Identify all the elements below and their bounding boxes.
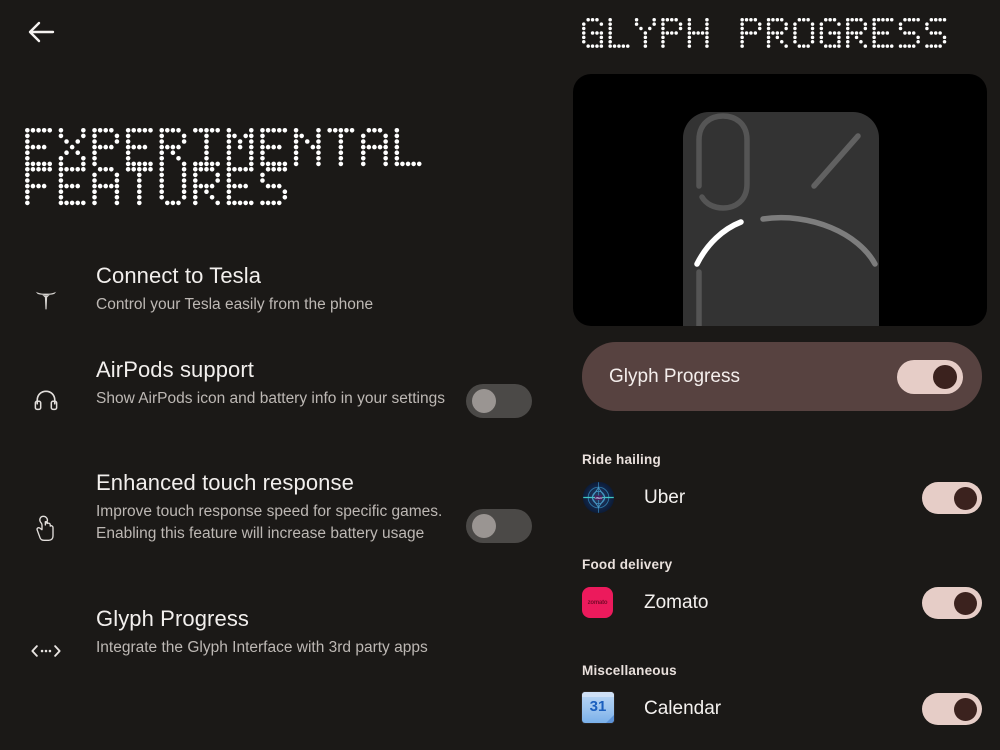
feature-title: Connect to Tesla (96, 262, 448, 290)
section-miscellaneous: Miscellaneous 31 Calendar (582, 663, 982, 726)
feature-subtitle: Improve touch response speed for specifi… (96, 501, 448, 544)
calendar-toggle[interactable] (922, 693, 982, 725)
app-name: Uber (644, 487, 922, 509)
back-button[interactable] (18, 10, 64, 54)
glyph-progress-master-label: Glyph Progress (609, 366, 740, 388)
experimental-features-screen: Connect to Tesla Control your Tesla easi… (0, 0, 1000, 750)
feature-row-airpods-support[interactable]: AirPods support Show AirPods icon and ba… (0, 350, 560, 465)
uber-toggle[interactable] (922, 482, 982, 514)
zomato-app-icon: zomato (582, 586, 616, 620)
feature-row-glyph-progress[interactable]: Glyph Progress Integrate the Glyph Inter… (0, 601, 560, 691)
feature-subtitle: Control your Tesla easily from the phone (96, 294, 448, 316)
calendar-app-icon: 31 (582, 692, 616, 726)
calendar-icon-day: 31 (582, 698, 614, 715)
glyph-progress-master-toggle[interactable] (897, 360, 963, 394)
feature-title: Glyph Progress (96, 605, 448, 633)
section-food-delivery: Food delivery zomato Zomato (582, 557, 982, 620)
section-header: Food delivery (582, 557, 982, 572)
app-row-zomato[interactable]: zomato Zomato (582, 586, 982, 620)
feature-title: AirPods support (96, 356, 448, 384)
app-row-uber[interactable]: UBER Uber (582, 481, 982, 515)
feature-subtitle: Show AirPods icon and battery info in yo… (96, 388, 448, 410)
page-title (25, 128, 505, 206)
feature-list: Connect to Tesla Control your Tesla easi… (0, 262, 560, 691)
glyph-progress-master-toggle-card[interactable]: Glyph Progress (582, 342, 982, 411)
section-ride-hailing: Ride hailing (582, 452, 982, 515)
page-title-line-2 (25, 167, 505, 206)
headphones-icon (26, 380, 66, 420)
tesla-logo-icon (26, 280, 66, 320)
section-header: Miscellaneous (582, 663, 982, 678)
arrow-left-icon (26, 19, 56, 45)
enhanced-touch-response-toggle[interactable] (466, 509, 532, 543)
glyph-progress-heading (582, 18, 952, 49)
feature-subtitle: Integrate the Glyph Interface with 3rd p… (96, 637, 448, 659)
feature-row-connect-to-tesla[interactable]: Connect to Tesla Control your Tesla easi… (0, 262, 560, 350)
section-header: Ride hailing (582, 452, 982, 467)
app-row-calendar[interactable]: 31 Calendar (582, 692, 982, 726)
svg-text:UBER: UBER (595, 496, 603, 500)
feature-title: Enhanced touch response (96, 469, 448, 497)
uber-app-icon: UBER (582, 481, 616, 515)
airpods-support-toggle[interactable] (466, 384, 532, 418)
app-name: Calendar (644, 698, 922, 720)
glyph-interface-illustration (573, 74, 987, 326)
left-panel: Connect to Tesla Control your Tesla easi… (0, 0, 560, 750)
glyph-preview-card (573, 74, 987, 326)
app-name: Zomato (644, 592, 922, 614)
feature-row-enhanced-touch-response[interactable]: Enhanced touch response Improve touch re… (0, 465, 560, 601)
zomato-toggle[interactable] (922, 587, 982, 619)
right-panel: Glyph Progress Ride hailing (560, 0, 1000, 750)
page-title-line-1 (25, 128, 505, 167)
glyph-brackets-icon (26, 631, 66, 671)
touch-hand-icon (26, 507, 66, 547)
zomato-icon-label: zomato (588, 600, 608, 606)
